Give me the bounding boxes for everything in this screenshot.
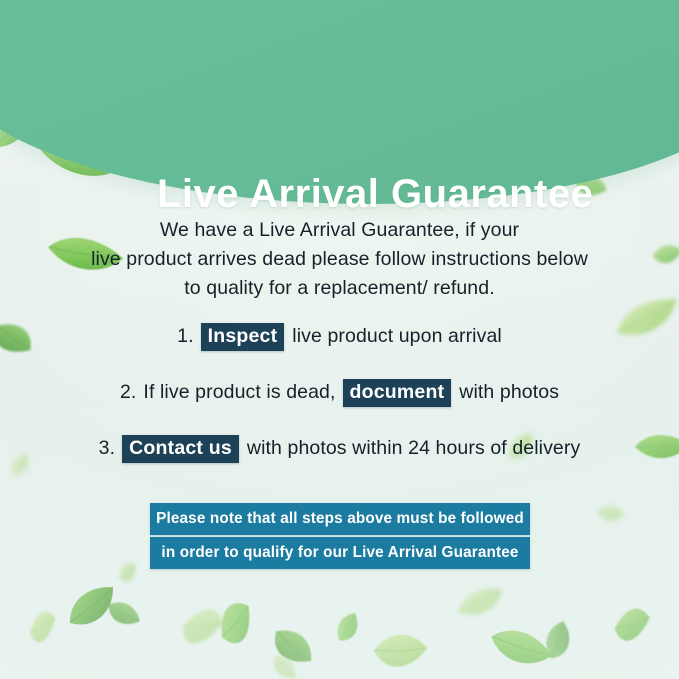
intro-paragraph: We have a Live Arrival Guarantee, if you… [0,216,679,303]
live-arrival-guarantee-poster: Live Arrival Guarantee We have a Live Ar… [0,0,679,679]
leaf-icon [328,608,371,650]
leaf-icon [116,560,139,589]
step-number: 3. [99,439,115,459]
step-text-after: with photos [459,383,559,403]
leaf-icon [99,592,145,639]
page-title: Live Arrival Guarantee [157,172,679,216]
step-item: 2. If live product is dead, document wit… [0,376,679,410]
step-highlight-document: document [343,379,452,408]
leaf-icon [366,623,432,679]
step-number: 1. [177,327,193,347]
leaf-icon [58,579,128,640]
instruction-steps: 1. Inspect live product upon arrival 2. … [0,320,679,488]
intro-line-1: We have a Live Arrival Guarantee, if you… [44,216,635,245]
intro-line-3: to quality for a replacement/ refund. [44,274,635,303]
leaf-icon [261,618,320,678]
footer-note-line-1: Please note that all steps above must be… [150,503,530,535]
leaf-icon [266,649,301,679]
leaf-icon [534,616,585,668]
step-text-before: If live product is dead, [143,383,335,403]
leaf-icon [592,498,628,532]
leaf-icon [27,607,57,653]
step-number: 2. [120,383,136,403]
step-highlight-inspect: Inspect [201,323,285,352]
leaf-icon [479,613,558,679]
leaf-icon [170,597,229,663]
step-text-after: live product upon arrival [292,327,502,347]
step-item: 3. Contact us with photos within 24 hour… [0,432,679,466]
leaf-icon [211,595,264,658]
leaf-icon [452,583,510,625]
intro-line-2: live product arrives dead please follow … [44,245,635,274]
footer-note-line-2: in order to qualify for our Live Arrival… [150,537,530,569]
step-item: 1. Inspect live product upon arrival [0,320,679,354]
leaf-icon [609,601,654,656]
step-highlight-contact-us: Contact us [122,435,239,464]
step-text-after: with photos within 24 hours of delivery [247,439,580,459]
